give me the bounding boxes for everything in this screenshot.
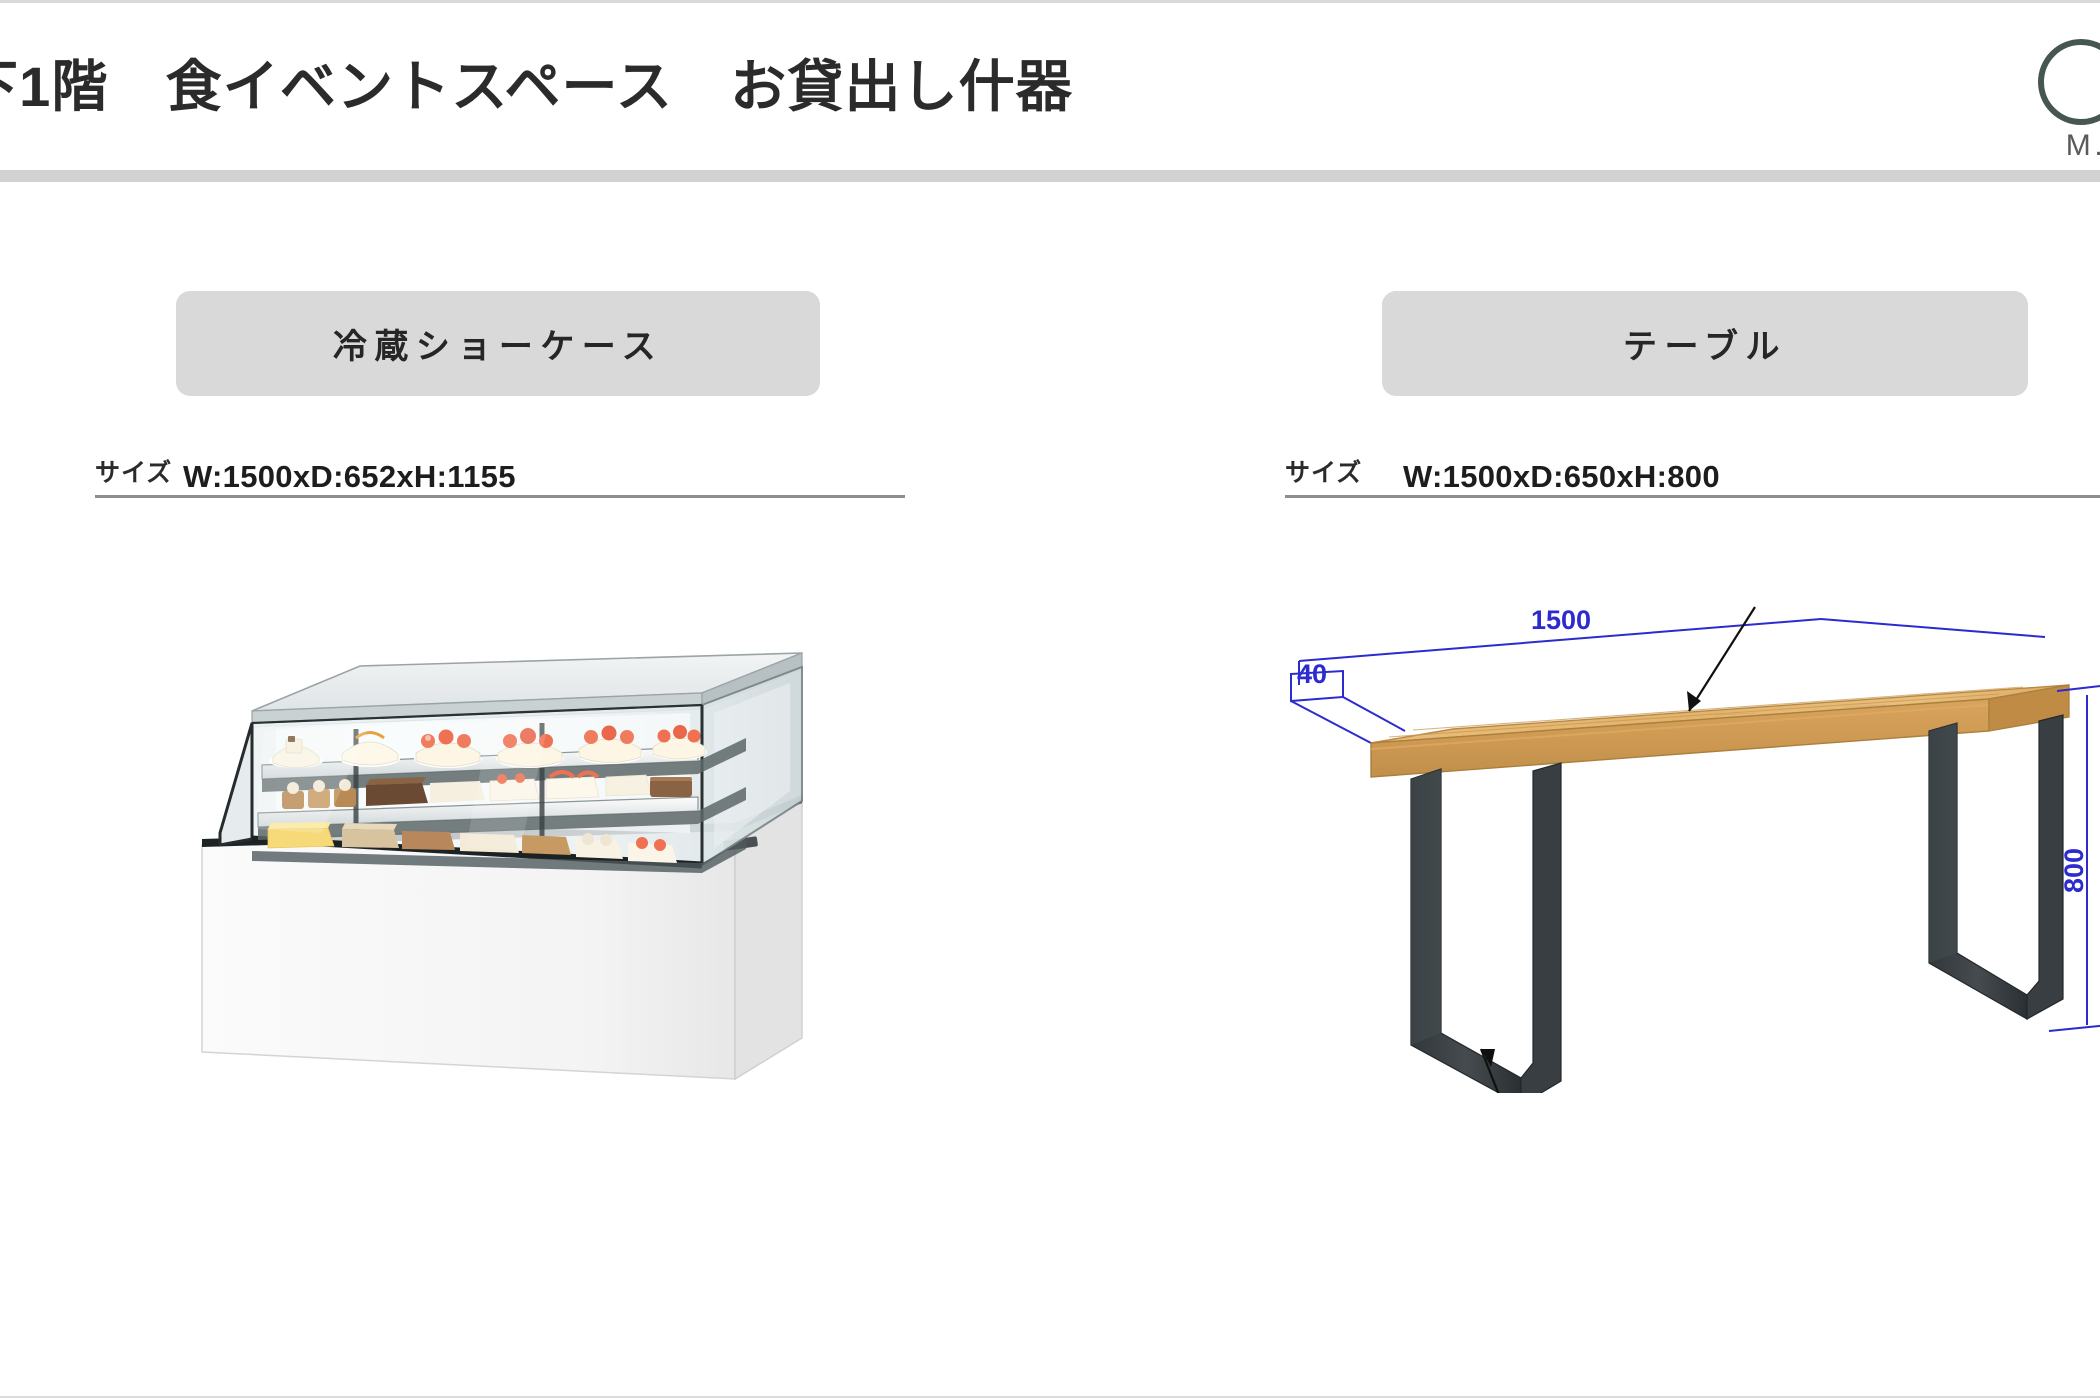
size-value: W:1500xD:652xH:1155: [183, 459, 516, 495]
size-value: W:1500xD:650xH:800: [1403, 459, 1720, 495]
wooden-table-drawing: 1500 40: [1285, 533, 2100, 1093]
category-chip-showcase[interactable]: 冷蔵ショーケース: [176, 291, 820, 396]
table-illustration-svg: 1500 40: [1285, 533, 2100, 1093]
circle-logo-icon: [2038, 39, 2100, 125]
refrigerated-display-case-photo: [190, 533, 890, 1093]
showcase-illustration-svg: [190, 533, 890, 1093]
category-chip-label: テーブル: [1623, 319, 1787, 368]
page-title: 下1階 食イベントスペース お貸出し什器: [0, 59, 1073, 115]
brand-logo[interactable]: M.: [2038, 39, 2100, 163]
equipment-card-showcase: 冷蔵ショーケース サイズ W:1500xD:652xH:1155: [95, 182, 1020, 1093]
category-chip-table[interactable]: テーブル: [1382, 291, 2028, 396]
figure-showcase: [95, 533, 1020, 1093]
bottom-hairline: [0, 1396, 2100, 1398]
size-row-table: サイズ W:1500xD:650xH:800: [1285, 443, 2100, 495]
equipment-card-table: テーブル サイズ W:1500xD:650xH:800: [1285, 182, 2100, 1093]
size-underline: [1285, 495, 2100, 498]
brand-wordmark: M.: [2038, 129, 2100, 163]
dimension-width-label: 1500: [1531, 605, 1591, 635]
size-label: サイズ: [1285, 453, 1362, 489]
page-header: 下1階 食イベントスペース お貸出し什器 M.: [0, 3, 2100, 170]
category-chip-label: 冷蔵ショーケース: [333, 319, 663, 368]
size-row-showcase: サイズ W:1500xD:652xH:1155: [95, 443, 905, 495]
size-label: サイズ: [95, 453, 172, 489]
size-underline: [95, 495, 905, 498]
header-accent-band: [0, 170, 2100, 182]
dimension-height-label: 800: [2059, 848, 2089, 893]
equipment-list: 冷蔵ショーケース サイズ W:1500xD:652xH:1155: [0, 182, 2100, 1396]
dimension-thickness-label: 40: [1297, 659, 1327, 689]
figure-table: 1500 40: [1285, 533, 2100, 1093]
